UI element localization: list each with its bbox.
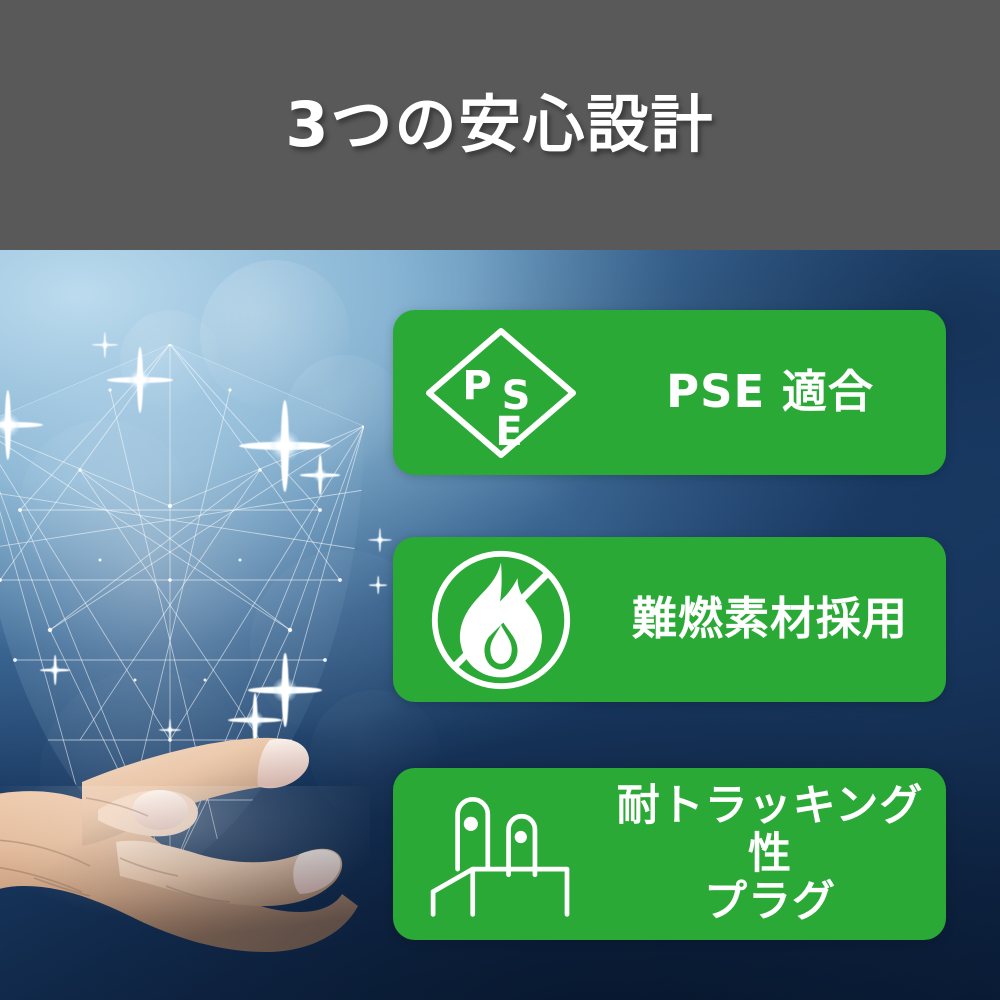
bokeh-circle (20, 420, 190, 590)
bokeh-circle (120, 310, 220, 410)
sparkle-star (0, 390, 43, 460)
prong-dot-left (463, 817, 477, 831)
feature-card-label-line2: プラグ (704, 877, 836, 927)
promo-banner: 3つの安心設計 (0, 0, 1000, 1000)
feature-card-label: PSE 適合 (608, 367, 946, 417)
sparkle-star (159, 719, 181, 741)
pse-letter-e: E (495, 409, 522, 455)
feature-card-pse[interactable]: P S E PSE 適合 (393, 310, 946, 475)
feature-card-label-group: 耐トラッキング性 プラグ (608, 782, 946, 926)
feature-card-label-line1: 耐トラッキング性 (617, 781, 924, 879)
feature-card-plug[interactable]: 耐トラッキング性 プラグ (393, 768, 946, 940)
no-fire-flame-icon (393, 547, 608, 693)
sparkle-star (300, 455, 340, 495)
open-hand-photo (0, 690, 390, 1000)
sparkle-star (92, 332, 118, 358)
sparkle-star (369, 576, 387, 594)
sparkle-star (107, 347, 173, 413)
bokeh-circle (40, 670, 250, 880)
plug-prongs-icon (393, 788, 608, 920)
bokeh-circle (285, 355, 405, 475)
feature-card-flame-retardant[interactable]: 難燃素材採用 (393, 537, 946, 702)
wireframe-shield-graphic (0, 330, 380, 890)
prong-dot-right (514, 831, 526, 843)
pse-letter-p: P (462, 363, 491, 409)
feature-card-label: 難燃素材採用 (608, 594, 946, 644)
sparkle-star (228, 693, 282, 747)
header-bar: 3つの安心設計 (0, 0, 1000, 250)
sparkle-star (40, 655, 70, 685)
sparkle-star (248, 653, 322, 727)
sparkle-star (368, 528, 392, 552)
page-title: 3つの安心設計 (285, 94, 714, 156)
sparkle-star (239, 400, 331, 492)
bokeh-circle (200, 260, 350, 410)
pse-diamond-icon: P S E (393, 323, 608, 463)
